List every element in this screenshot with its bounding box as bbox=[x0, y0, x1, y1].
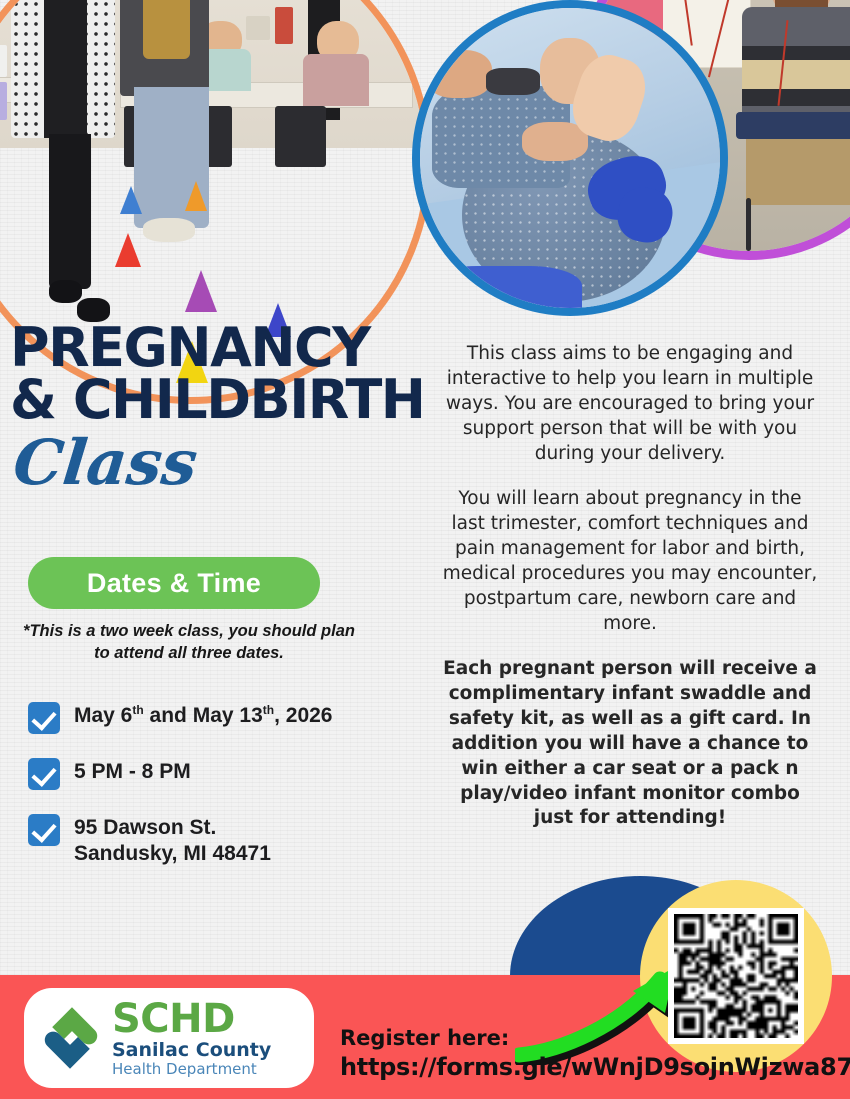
checklist-item-location: 95 Dawson St. Sandusky, MI 48471 bbox=[28, 812, 428, 868]
checkbox-icon bbox=[28, 758, 60, 790]
logo-department: Health Department bbox=[112, 1062, 271, 1077]
checkbox-icon bbox=[28, 814, 60, 846]
headline-line-1: PREGNANCY bbox=[10, 322, 450, 374]
paragraph-topics: You will learn about pregnancy in the la… bbox=[440, 487, 820, 637]
headline-line-2: & CHILDBIRTH bbox=[10, 374, 450, 426]
paragraph-gifts: Each pregnant person will receive a comp… bbox=[440, 657, 820, 832]
qr-code[interactable] bbox=[668, 908, 804, 1044]
schd-diamond-icon bbox=[36, 1003, 106, 1073]
register-label: Register here: bbox=[340, 1026, 850, 1050]
address-line-1: 95 Dawson St. bbox=[74, 815, 271, 841]
dates-and-time-label: Dates & Time bbox=[87, 568, 261, 599]
registration-info: Register here: https://forms.gle/wWnjD9s… bbox=[340, 1026, 850, 1081]
page-title: PREGNANCY & CHILDBIRTH Class bbox=[10, 322, 450, 494]
checklist-dates-text: May 6th and May 13th, 2026 bbox=[74, 700, 332, 729]
details-checklist: May 6th and May 13th, 2026 5 PM - 8 PM 9… bbox=[28, 700, 428, 890]
photo-labor-support bbox=[412, 0, 728, 316]
checklist-item-dates: May 6th and May 13th, 2026 bbox=[28, 700, 428, 734]
qr-code-canvas bbox=[674, 914, 798, 1038]
class-note: *This is a two week class, you should pl… bbox=[14, 620, 364, 665]
checklist-item-time: 5 PM - 8 PM bbox=[28, 756, 428, 790]
logo-county: Sanilac County bbox=[112, 1041, 271, 1060]
logo-acronym: SCHD bbox=[112, 999, 271, 1039]
register-url[interactable]: https://forms.gle/wWnjD9sojnWjzwa87 bbox=[340, 1053, 850, 1081]
paragraph-intro: This class aims to be engaging and inter… bbox=[440, 342, 820, 467]
schd-logo: SCHD Sanilac County Health Department bbox=[24, 988, 314, 1088]
dates-and-time-badge: Dates & Time bbox=[28, 557, 320, 609]
address-line-2: Sandusky, MI 48471 bbox=[74, 841, 271, 867]
headline-script-class: Class bbox=[11, 432, 454, 494]
checkbox-icon bbox=[28, 702, 60, 734]
checklist-location-text: 95 Dawson St. Sandusky, MI 48471 bbox=[74, 812, 271, 868]
description-column: This class aims to be engaging and inter… bbox=[440, 342, 820, 851]
checklist-time-text: 5 PM - 8 PM bbox=[74, 756, 191, 785]
